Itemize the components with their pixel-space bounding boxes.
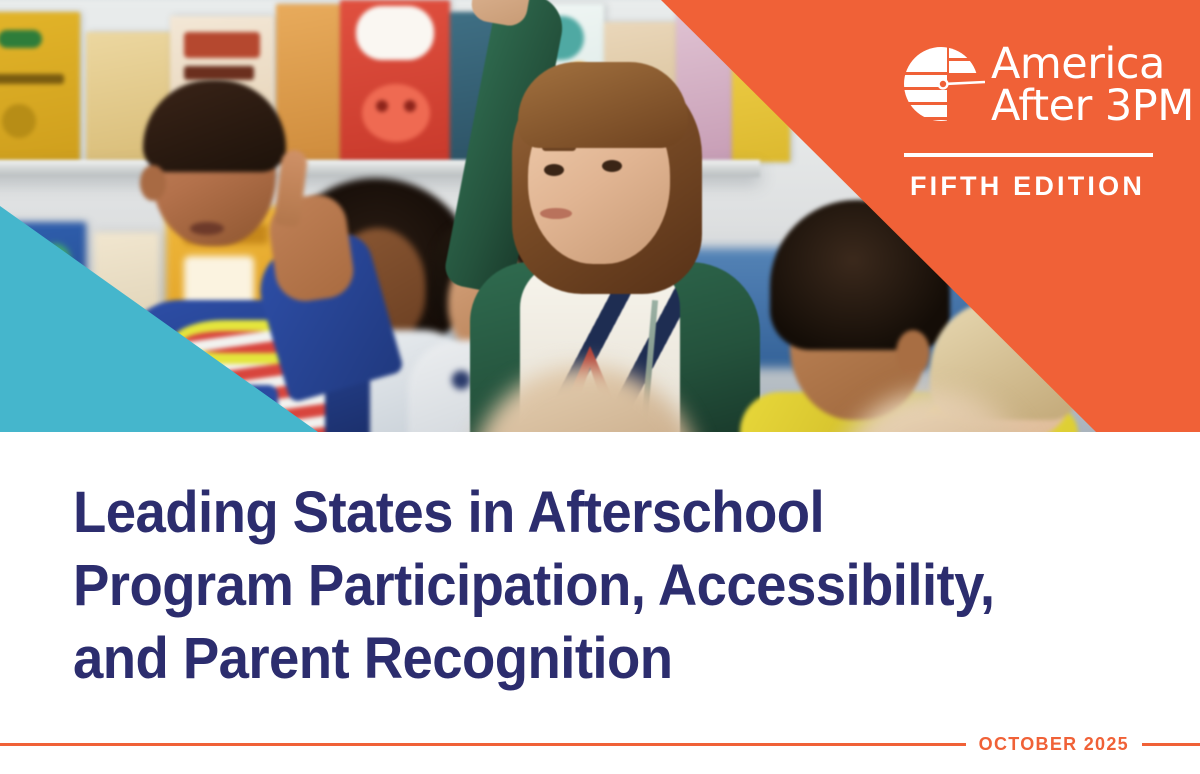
rule-left xyxy=(0,743,966,746)
brand-name-line-1: America xyxy=(991,44,1194,84)
publication-date: OCTOBER 2025 xyxy=(966,734,1142,755)
mouth xyxy=(190,222,224,235)
title-line-1: Leading States in Afterschool xyxy=(73,476,1032,549)
lockup-divider xyxy=(904,153,1153,157)
america-after-3pm-logo-icon xyxy=(903,44,985,126)
brand-lockup: America After 3PM FIFTH EDITION xyxy=(903,42,1165,202)
book xyxy=(0,12,80,162)
title-line-2: Program Participation, Accessibility, xyxy=(73,549,1032,622)
page-title: Leading States in Afterschool Program Pa… xyxy=(73,476,1093,695)
title-line-3: and Parent Recognition xyxy=(73,622,1032,695)
footer-date-rule: OCTOBER 2025 xyxy=(0,733,1200,755)
hero-photo: America After 3PM FIFTH EDITION xyxy=(0,0,1200,432)
rule-right xyxy=(1142,743,1200,746)
mouth xyxy=(540,208,572,219)
fringe xyxy=(518,62,688,148)
ear xyxy=(140,165,166,201)
book xyxy=(276,4,340,162)
brand-name-line-2: After 3PM xyxy=(991,86,1194,126)
book xyxy=(340,0,450,162)
report-cover: America After 3PM FIFTH EDITION Leading … xyxy=(0,0,1200,774)
edition-label: FIFTH EDITION xyxy=(903,171,1152,202)
ear xyxy=(896,330,930,376)
